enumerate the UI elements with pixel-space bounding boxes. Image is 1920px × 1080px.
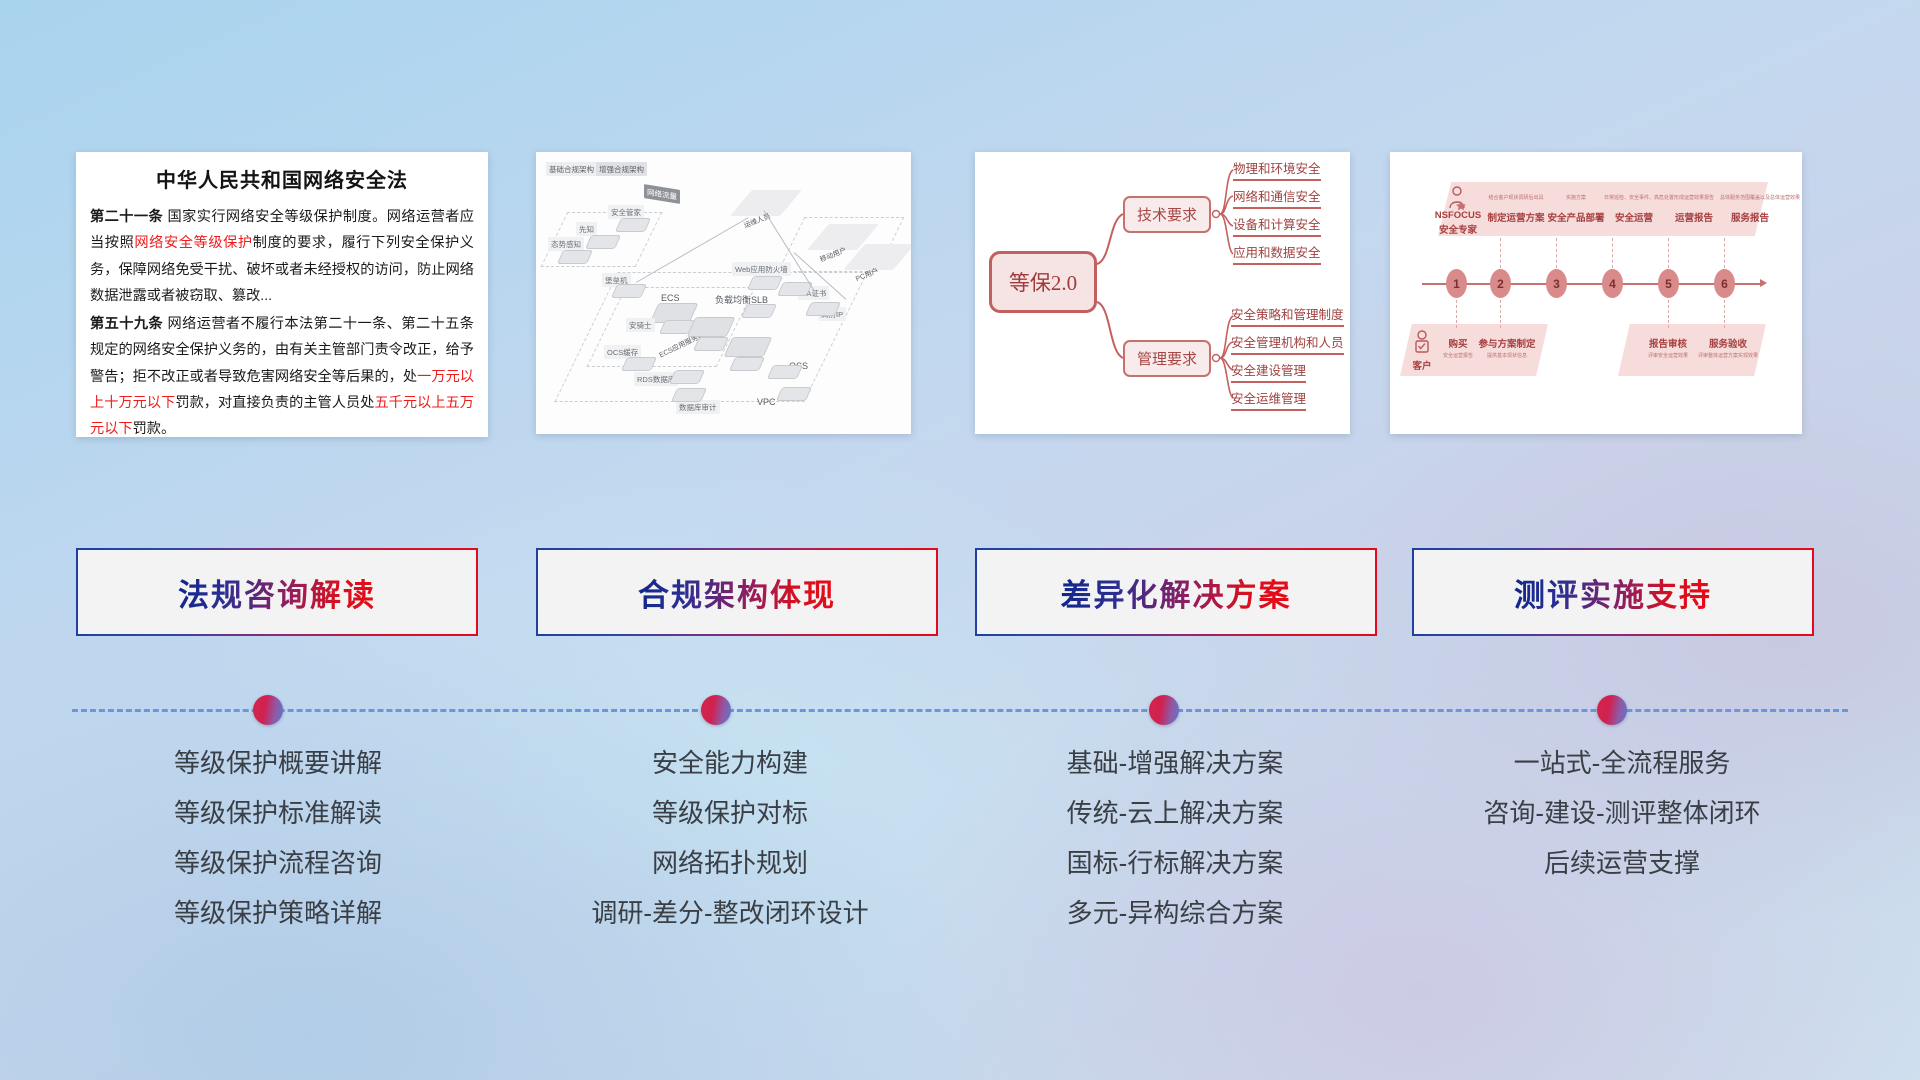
process-step-6[interactable]: 6: [1714, 269, 1735, 298]
bottom-stage-title-3: 报告审核: [1640, 336, 1696, 350]
timeline-dot-1[interactable]: [253, 695, 283, 725]
detail-item: 一站式-全流程服务: [1412, 738, 1832, 788]
arch-node-app-2: [693, 337, 729, 351]
arch-node-xianzhi: [585, 235, 621, 249]
arch-node-app-4: [729, 357, 765, 371]
bottom-stage-title-2: 参与方案制定: [1476, 336, 1538, 350]
headline-box-regulation-consulting[interactable]: 法规咨询解读: [76, 548, 478, 636]
bottom-stage-sub-4: 评审整体运营方案实现效果: [1694, 352, 1762, 359]
thumbnail-service-process[interactable]: NSFOCUS 安全专家 结合客户现状调研后出具 制定运营方案 实施方案 安全产…: [1390, 152, 1802, 434]
arch-label-xianzhi: 先知: [576, 222, 597, 236]
detail-column-2: 安全能力构建 等级保护对标 网络拓扑规划 调研-差分-整改闭环设计: [520, 738, 940, 938]
process-leader-b4: [1724, 300, 1725, 328]
expert-avatar-icon: [1446, 186, 1468, 210]
architecture-canvas: 基础合规架构 增强合规架构 网络流量 安全管家 先知 态势感知 堡垒机 ECS …: [536, 152, 911, 434]
mind-map-canvas: 等保2.0 技术要求 物理和环境安全 网络和通信安全 设备和计算安全 应用和数据…: [975, 152, 1350, 434]
detail-item: 网络拓扑规划: [520, 838, 940, 888]
arch-label-anqishi: 安骑士: [626, 318, 655, 332]
process-axis: [1422, 283, 1762, 285]
top-stage-sub-2: 实施方案: [1550, 194, 1602, 201]
headline-box-assessment-support[interactable]: 测评实施支持: [1412, 548, 1814, 636]
mind-map-leaf-device-compute: 设备和计算安全: [1233, 214, 1321, 237]
process-canvas: NSFOCUS 安全专家 结合客户现状调研后出具 制定运营方案 实施方案 安全产…: [1390, 152, 1802, 434]
arch-node-vpc: [776, 387, 812, 401]
mind-map-leaf-physical-env: 物理和环境安全: [1233, 158, 1321, 181]
process-step-5[interactable]: 5: [1658, 269, 1679, 298]
brand-name: NSFOCUS: [1432, 210, 1484, 221]
mind-map-leaf-app-data: 应用和数据安全: [1233, 242, 1321, 265]
bottom-stage-title-1: 购买: [1438, 336, 1478, 350]
process-leader-b1: [1456, 300, 1457, 328]
law-article-59: 第五十九条 网络运营者不履行本法第二十一条、第二十五条规定的网络安全保护义务的，…: [90, 311, 474, 437]
detail-item: 安全能力构建: [520, 738, 940, 788]
arch-node-rds: [669, 370, 705, 384]
process-step-4[interactable]: 4: [1602, 269, 1623, 298]
detail-item: 后续运营支撑: [1412, 838, 1832, 888]
process-leader-2: [1500, 238, 1501, 268]
process-leader-b2: [1500, 300, 1501, 328]
bottom-stage-sub-2: 提供基本现状信息: [1476, 352, 1538, 359]
detail-columns: 等级保护概要讲解 等级保护标准解读 等级保护流程咨询 等级保护策略详解 安全能力…: [0, 738, 1920, 978]
top-stage-sub-5: 总体服务范围覆盖以及总体运营效果: [1720, 194, 1780, 201]
headline-box-compliance-architecture[interactable]: 合规架构体现: [536, 548, 938, 636]
detail-item: 等级保护概要讲解: [68, 738, 488, 788]
detail-column-4: 一站式-全流程服务 咨询-建设-测评整体闭环 后续运营支撑: [1412, 738, 1832, 888]
top-stage-sub-3: 日常巡检、安全事件、高危处置: [1604, 194, 1666, 201]
arch-label-security-steward: 安全管家: [608, 205, 644, 219]
arch-label-situational: 态势感知: [548, 237, 584, 251]
arch-node-anti-ddos: [805, 302, 841, 316]
headline-label-1: 法规咨询解读: [178, 570, 376, 615]
mind-map-leaf-policy-system: 安全策略和管理制度: [1231, 304, 1344, 327]
detail-item: 等级保护标准解读: [68, 788, 488, 838]
timeline: [0, 690, 1920, 730]
process-axis-arrow-icon: [1760, 279, 1767, 287]
process-leader-4: [1612, 238, 1613, 268]
mind-map-leaf-ops-mgmt: 安全运维管理: [1231, 388, 1306, 411]
detail-column-3: 基础-增强解决方案 传统-云上解决方案 国标-行标解决方案 多元-异构综合方案: [965, 738, 1385, 938]
top-stage-sub-4: 形成运营效果报告: [1666, 194, 1722, 201]
headline-label-3: 差异化解决方案: [1061, 570, 1292, 615]
mind-map-leaf-org-personnel: 安全管理机构和人员: [1231, 332, 1344, 355]
process-leader-3: [1556, 238, 1557, 268]
thumbnail-row: 中华人民共和国网络安全法 第二十一条 国家实行网络安全等级保护制度。网络运营者应…: [0, 152, 1920, 442]
process-band-customer-right: [1618, 324, 1766, 376]
process-step-1[interactable]: 1: [1446, 269, 1467, 298]
thumbnail-mind-map[interactable]: 等保2.0 技术要求 物理和环境安全 网络和通信安全 设备和计算安全 应用和数据…: [975, 152, 1350, 434]
arch-node-oss: [767, 365, 803, 379]
arch-node-ocs: [621, 357, 657, 371]
bottom-stage-title-4: 服务验收: [1700, 336, 1756, 350]
process-leader-6: [1724, 238, 1725, 268]
process-band-provider: [1438, 182, 1768, 236]
law-article-21-number: 第二十一条: [90, 209, 163, 225]
bottom-stage-sub-1: 安全运营报告: [1434, 352, 1482, 359]
headline-label-2: 合规架构体现: [638, 570, 836, 615]
law-article-21-seg-1: 网络安全等级保护: [134, 235, 252, 251]
arch-label-waf: Web应用防火墙: [732, 262, 791, 276]
detail-item: 调研-差分-整改闭环设计: [520, 888, 940, 938]
arch-node-slb: [741, 304, 777, 318]
detail-column-1: 等级保护概要讲解 等级保护标准解读 等级保护流程咨询 等级保护策略详解: [68, 738, 488, 938]
detail-item: 基础-增强解决方案: [965, 738, 1385, 788]
timeline-dot-4[interactable]: [1597, 695, 1627, 725]
detail-item: 国标-行标解决方案: [965, 838, 1385, 888]
arch-node-waf: [747, 276, 783, 290]
arch-node-db-audit: [671, 388, 707, 402]
top-stage-title-5: 服务报告: [1724, 210, 1776, 224]
arch-node-ca: [777, 282, 813, 296]
top-stage-title-2: 安全产品部署: [1546, 210, 1606, 224]
detail-item: 等级保护对标: [520, 788, 940, 838]
mind-map-root: 等保2.0: [989, 251, 1097, 313]
headline-row: 法规咨询解读 合规架构体现 差异化解决方案 测评实施支持: [0, 548, 1920, 638]
arch-label-vpc: VPC: [754, 395, 779, 408]
top-stage-sub-1: 结合客户现状调研后出具: [1486, 194, 1546, 201]
law-article-59-seg-2: 罚款，对直接负责的主管人员处: [175, 395, 374, 411]
mind-map-branch-management: 管理要求: [1123, 340, 1211, 377]
arch-node-bastion: [611, 284, 647, 298]
customer-avatar-icon: [1412, 330, 1432, 356]
arch-node-situational: [557, 250, 593, 264]
law-article-59-seg-4: 罚款。: [133, 421, 176, 437]
process-leader-5: [1668, 238, 1669, 268]
top-stage-title-4: 运营报告: [1666, 210, 1722, 224]
arch-node-security-steward: [615, 218, 651, 232]
mind-map-branch-technical: 技术要求: [1123, 196, 1211, 233]
top-stage-title-3: 安全运营: [1606, 210, 1662, 224]
process-step-2[interactable]: 2: [1490, 269, 1511, 298]
law-article-59-number: 第五十九条: [90, 316, 163, 332]
customer-role: 客户: [1406, 358, 1438, 372]
detail-item: 多元-异构综合方案: [965, 888, 1385, 938]
bottom-stage-sub-3: 评审安全运营效果: [1638, 352, 1698, 359]
law-document-body: 中华人民共和国网络安全法 第二十一条 国家实行网络安全等级保护制度。网络运营者应…: [76, 152, 488, 437]
timeline-dot-3[interactable]: [1149, 695, 1179, 725]
law-article-21: 第二十一条 国家实行网络安全等级保护制度。网络运营者应当按照网络安全等级保护制度…: [90, 204, 474, 309]
detail-item: 等级保护流程咨询: [68, 838, 488, 888]
timeline-dot-2[interactable]: [701, 695, 731, 725]
detail-item: 传统-云上解决方案: [965, 788, 1385, 838]
mind-map-leaf-build-mgmt: 安全建设管理: [1231, 360, 1306, 383]
law-title: 中华人民共和国网络安全法: [90, 164, 474, 193]
arch-label-traffic: 网络流量: [644, 184, 680, 204]
process-leader-b3: [1668, 300, 1669, 328]
headline-box-differentiated-solution[interactable]: 差异化解决方案: [975, 548, 1377, 636]
mind-map-leaf-network-comm: 网络和通信安全: [1233, 186, 1321, 209]
process-step-3[interactable]: 3: [1546, 269, 1567, 298]
detail-item: 咨询-建设-测评整体闭环: [1412, 788, 1832, 838]
arch-label-db-audit: 数据库审计: [676, 400, 720, 414]
timeline-dashed-line: [72, 709, 1848, 712]
arch-tab-enhanced[interactable]: 增强合规架构: [596, 162, 647, 176]
headline-label-4: 测评实施支持: [1514, 570, 1712, 615]
thumbnail-cloud-architecture[interactable]: 基础合规架构 增强合规架构 网络流量 安全管家 先知 态势感知 堡垒机 ECS …: [536, 152, 911, 434]
detail-item: 等级保护策略详解: [68, 888, 488, 938]
arch-tab-basic[interactable]: 基础合规架构: [546, 162, 597, 176]
top-stage-title-1: 制定运营方案: [1486, 210, 1546, 224]
brand-role: 安全专家: [1432, 222, 1484, 236]
thumbnail-law-document[interactable]: 中华人民共和国网络安全法 第二十一条 国家实行网络安全等级保护制度。网络运营者应…: [76, 152, 488, 437]
